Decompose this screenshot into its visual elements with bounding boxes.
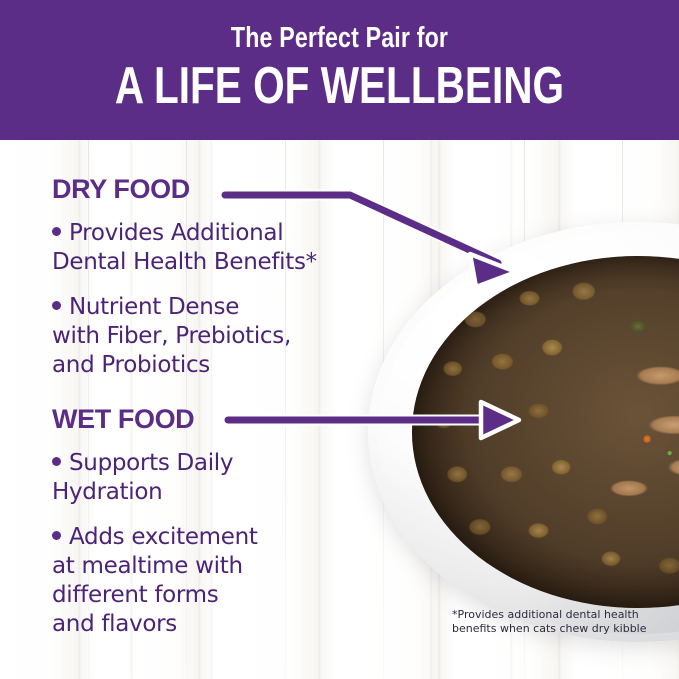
list-item: Adds excitement at mealtime with differe… (52, 523, 258, 639)
dry-food-heading: DRY FOOD (52, 174, 317, 205)
bullet-line: and Probiotics (52, 352, 210, 378)
wet-food-bullet-list: Supports Daily Hydration Adds excitement… (52, 449, 258, 639)
bullet-line: Supports Daily (69, 450, 233, 476)
footnote-line: benefits when cats chew dry kibble (452, 622, 672, 636)
footnote: *Provides additional dental health benef… (452, 608, 672, 636)
promo-infographic: The Perfect Pair for A LIFE OF WELLBEING… (0, 0, 679, 679)
bullet-line: at mealtime with (52, 553, 243, 579)
banner-subtitle: The Perfect Pair for (68, 22, 611, 54)
bullet-line: Hydration (52, 479, 162, 505)
footnote-line: *Provides additional dental health (452, 608, 672, 622)
bullet-line: Adds excitement (69, 524, 258, 550)
cat-food-bowl-photo (368, 222, 679, 662)
banner-title: A LIFE OF WELLBEING (75, 58, 605, 114)
list-item: Supports Daily Hydration (52, 449, 258, 507)
bullet-dot-icon (52, 457, 61, 466)
bullet-dot-icon (52, 531, 61, 540)
bullet-line: with Fiber, Prebiotics, (52, 323, 291, 349)
bullet-line: Provides Additional (69, 220, 283, 246)
dry-food-bullet-list: Provides Additional Dental Health Benefi… (52, 219, 317, 380)
dry-food-section: DRY FOOD Provides Additional Dental Heal… (52, 174, 317, 380)
wet-food-section: WET FOOD Supports Daily Hydration Adds e… (52, 404, 258, 639)
bullet-dot-icon (52, 301, 61, 310)
bowl-interior (412, 256, 679, 608)
bullet-line: Nutrient Dense (69, 294, 239, 320)
header-banner: The Perfect Pair for A LIFE OF WELLBEING (0, 0, 679, 140)
wet-food-heading: WET FOOD (52, 404, 258, 435)
bullet-dot-icon (52, 227, 61, 236)
bullet-line: different forms (52, 582, 218, 608)
bullet-line: Dental Health Benefits* (52, 249, 317, 275)
list-item: Provides Additional Dental Health Benefi… (52, 219, 317, 277)
bullet-line: and flavors (52, 611, 177, 637)
list-item: Nutrient Dense with Fiber, Prebiotics, a… (52, 293, 317, 380)
